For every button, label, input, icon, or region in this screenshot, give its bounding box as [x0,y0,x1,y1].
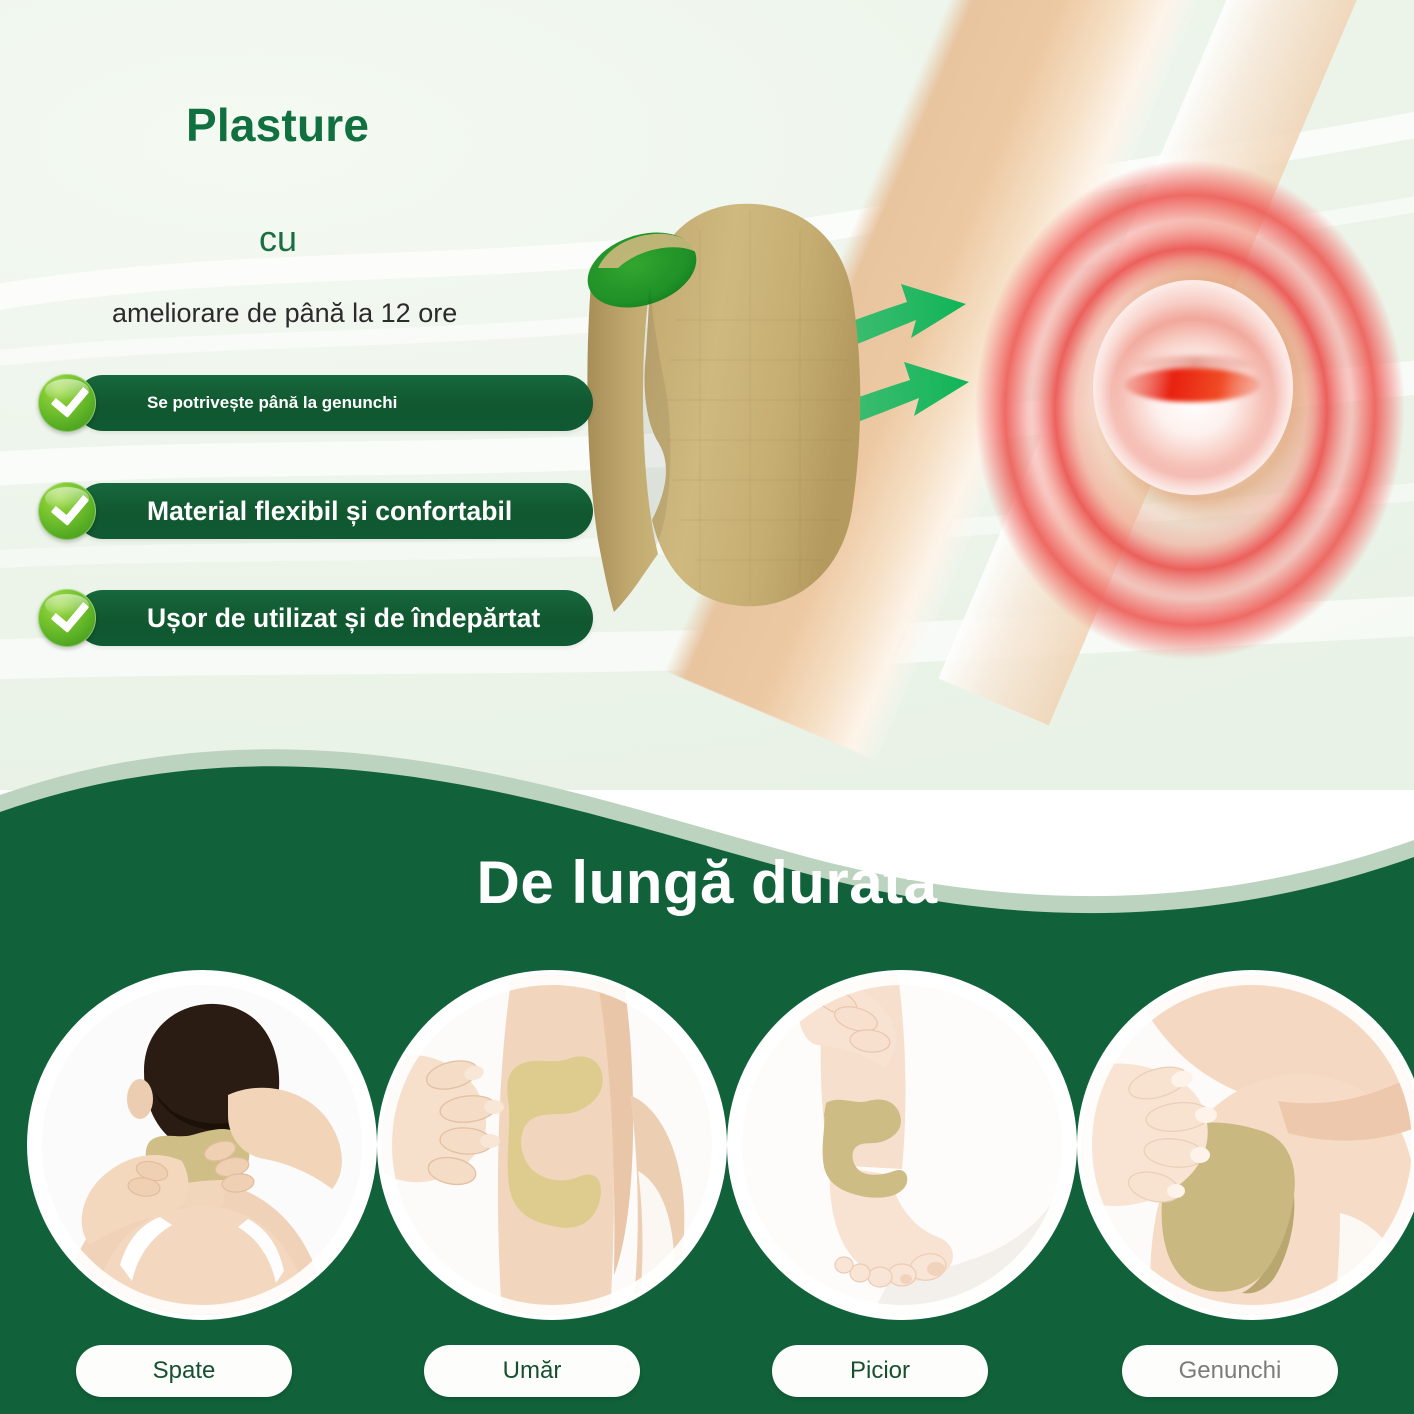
area-photo-2 [382,975,722,1315]
area-label-3[interactable]: Picior [772,1345,988,1397]
area-label-text: Picior [850,1357,910,1385]
area-label-4[interactable]: Genunchi [1122,1345,1338,1397]
shoulder-arm-patch-photo [382,975,722,1315]
knee-patch-photo [1082,975,1414,1315]
area-photo-1 [32,975,372,1315]
area-label-text: Umăr [503,1357,562,1385]
product-infographic: Plasture cu ameliorare de până la 12 ore… [0,0,1414,1414]
area-photo-4 [1082,975,1414,1315]
area-label-2[interactable]: Umăr [424,1345,640,1397]
neck-back-patch-photo [32,975,372,1315]
check-circle-icon [38,589,96,647]
foot-ankle-patch-photo [732,975,1072,1315]
area-label-1[interactable]: Spate [76,1345,292,1397]
area-label-text: Spate [153,1357,216,1385]
check-circle-icon [38,482,96,540]
section-heading: De lungă durată [0,848,1414,917]
check-circle-icon [38,374,96,432]
area-label-text: Genunchi [1179,1357,1282,1385]
area-photo-3 [732,975,1072,1315]
